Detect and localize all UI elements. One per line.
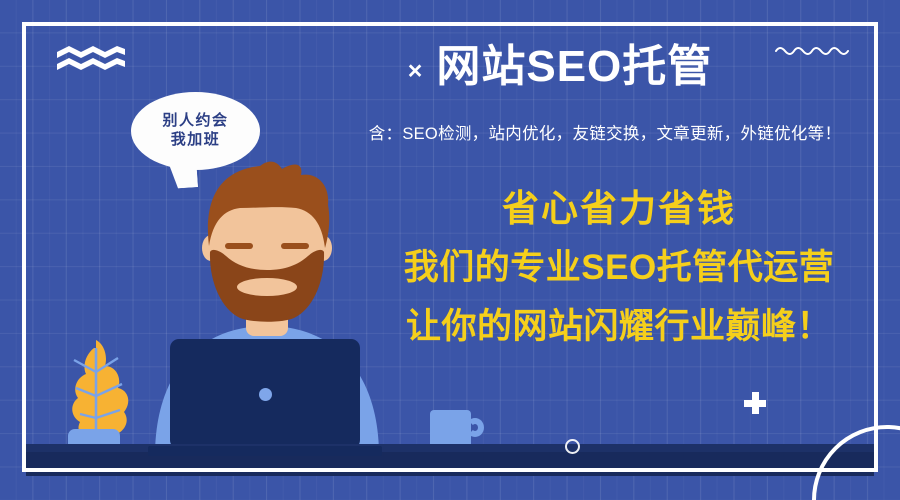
cross-icon: × <box>408 59 423 84</box>
pitch-block: 省心省力省钱 我们的专业SEO托管代运营 让你的网站闪耀行业巅峰！ <box>378 190 860 344</box>
page-title: 网站SEO托管 <box>436 44 712 90</box>
thin-wave-icon <box>775 44 849 56</box>
person-beard <box>210 250 324 322</box>
circle-outline-icon <box>565 439 580 454</box>
speech-bubble-line-2: 我加班 <box>171 131 221 150</box>
person-ear-right <box>314 235 332 261</box>
plus-icon <box>744 392 766 414</box>
plant-leaf <box>72 340 128 436</box>
speech-bubble: 别人约会 我加班 <box>131 92 260 170</box>
pitch-line-1: 省心省力省钱 <box>378 190 860 227</box>
coffee-mug-handle <box>466 418 484 437</box>
speech-bubble-line-1: 别人约会 <box>162 112 228 131</box>
person-mouth <box>237 278 297 296</box>
person-eyebrow-right <box>281 243 309 249</box>
page-title-row: × 网站SEO托管 <box>330 44 790 90</box>
person-neck <box>246 290 288 336</box>
person-face <box>209 175 325 311</box>
page-subtitle: 含：SEO检测，站内优化，友链交换，文章更新，外链优化等！ <box>330 120 880 144</box>
zigzag-wave-icon <box>55 44 127 74</box>
pitch-line-3: 让你的网站闪耀行业巅峰！ <box>378 309 860 344</box>
person-eyebrow-left <box>225 243 253 249</box>
seo-promo-banner: 别人约会 我加班 × 网站SEO托管 含：SEO检测，站内优化，友链交换，文章更… <box>0 0 900 500</box>
pitch-line-2: 我们的专业SEO托管代运营 <box>378 250 860 285</box>
person-hair <box>208 162 329 248</box>
laptop-base <box>148 446 382 456</box>
person-ear-left <box>202 235 220 261</box>
laptop-logo-dot <box>259 388 272 401</box>
